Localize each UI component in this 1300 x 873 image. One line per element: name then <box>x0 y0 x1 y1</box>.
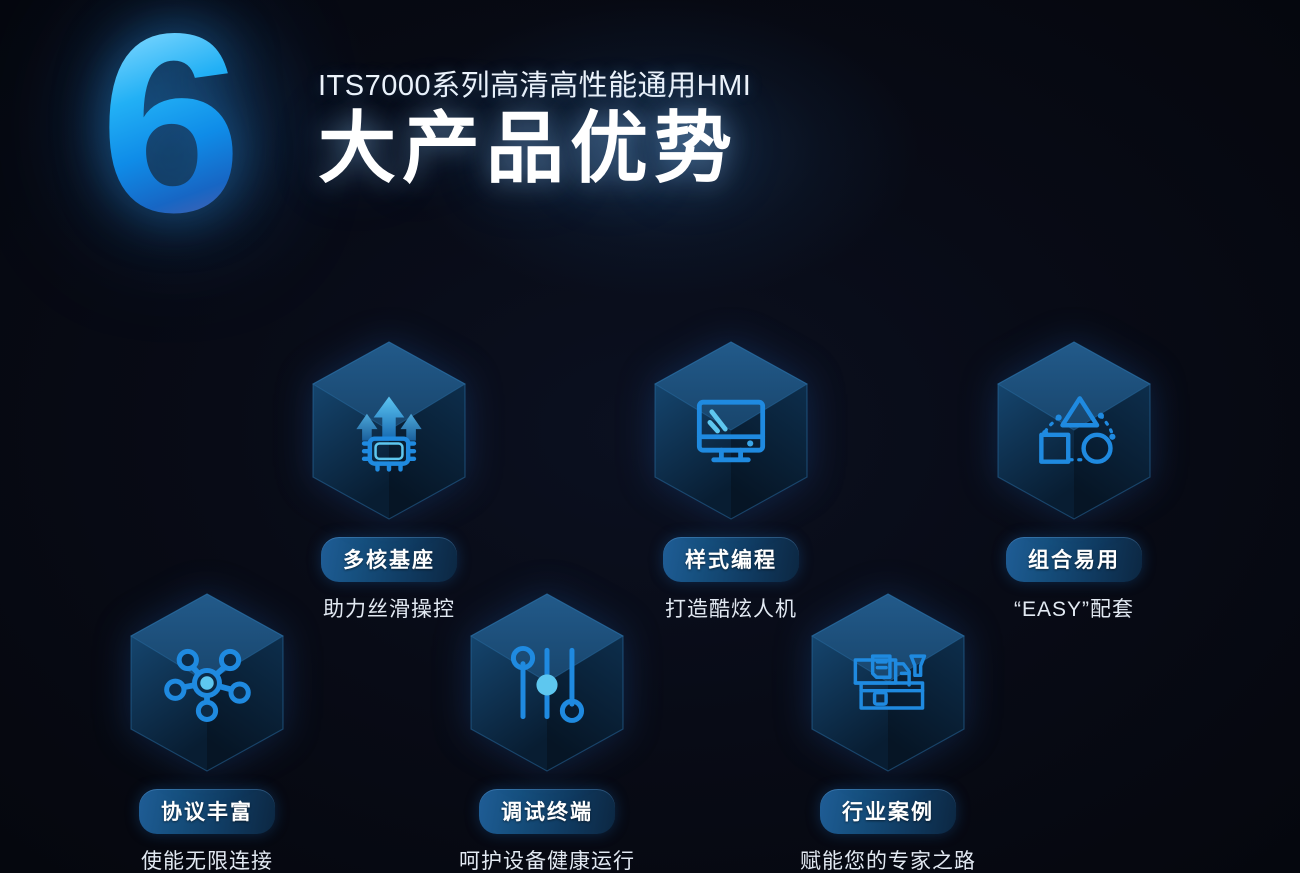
advantage-title-pill: 行业案例 <box>820 789 956 834</box>
advantage-desc: 赋能您的专家之路 <box>783 845 993 873</box>
advantage-desc: “EASY”配套 <box>969 593 1179 623</box>
machine-icon <box>808 590 968 775</box>
advantage-title-pill: 样式编程 <box>663 537 799 582</box>
advantage-title-pill: 组合易用 <box>1006 537 1142 582</box>
hex-tile <box>467 590 627 775</box>
advantage-card-multi-core-base[interactable]: 多核基座 助力丝滑操控 <box>284 338 494 623</box>
hex-tile <box>994 338 1154 523</box>
advantage-card-industry-cases[interactable]: 行业案例 赋能您的专家之路 <box>783 590 993 873</box>
header-subtitle: ITS7000系列高清高性能通用HMI <box>318 62 751 104</box>
chip-arrows-icon <box>309 338 469 523</box>
advantage-title-pill: 协议丰富 <box>139 789 275 834</box>
sliders-icon <box>467 590 627 775</box>
advantage-card-style-programming[interactable]: 样式编程 打造酷炫人机 <box>626 338 836 623</box>
advantage-card-easy-combination[interactable]: 组合易用 “EASY”配套 <box>969 338 1179 623</box>
poster-header: 6 ITS7000系列高清高性能通用HMI 大产品优势 <box>0 0 1300 270</box>
big-number-6: 6 <box>100 0 236 251</box>
advantage-desc: 使能无限连接 <box>102 845 312 873</box>
advantage-title-pill: 调试终端 <box>479 789 615 834</box>
hex-tile <box>309 338 469 523</box>
poster-stage: 6 ITS7000系列高清高性能通用HMI 大产品优势 <box>0 0 1300 873</box>
shapes-network-icon <box>994 338 1154 523</box>
advantage-title-pill: 多核基座 <box>321 537 457 582</box>
advantage-card-rich-protocols[interactable]: 协议丰富 使能无限连接 <box>102 590 312 873</box>
hub-network-icon <box>127 590 287 775</box>
hex-tile <box>127 590 287 775</box>
page-title: 大产品优势 <box>318 104 738 192</box>
advantage-card-debug-terminal[interactable]: 调试终端 呵护设备健康运行 <box>442 590 652 873</box>
monitor-icon <box>651 338 811 523</box>
hex-tile <box>651 338 811 523</box>
hex-tile <box>808 590 968 775</box>
advantage-desc: 呵护设备健康运行 <box>442 845 652 873</box>
